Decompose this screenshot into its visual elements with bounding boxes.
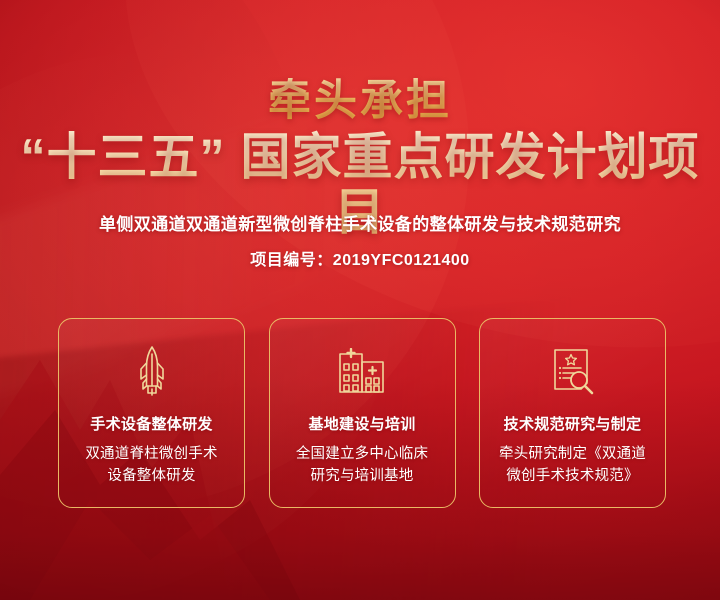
- card-title: 基地建设与培训: [308, 413, 415, 434]
- card-description-line: 全国建立多中心临床: [276, 443, 448, 465]
- hospital-building-icon: [338, 345, 386, 397]
- feature-card-list: 手术设备整体研发 双通道脊柱微创手术 设备整体研发: [58, 318, 666, 508]
- card-description-line: 设备整体研发: [66, 465, 238, 487]
- subtitle: 单侧双通道双通道新型微创脊柱手术设备的整体研发与技术规范研究: [0, 210, 720, 235]
- card-description-line: 双通道脊柱微创手术: [66, 443, 238, 465]
- card-description-line: 牵头研究制定《双通道: [487, 443, 659, 465]
- card-title: 手术设备整体研发: [90, 413, 212, 434]
- card-description-line: 研究与培训基地: [276, 465, 448, 487]
- feature-card[interactable]: 基地建设与培训 全国建立多中心临床 研究与培训基地: [269, 318, 456, 508]
- rocket-icon: [128, 345, 176, 397]
- card-description: 牵头研究制定《双通道 微创手术技术规范》: [487, 443, 659, 488]
- document-search-icon: [549, 345, 597, 397]
- card-title: 技术规范研究与制定: [504, 413, 642, 434]
- feature-card[interactable]: 技术规范研究与制定 牵头研究制定《双通道 微创手术技术规范》: [479, 318, 666, 508]
- promo-banner: 牵头承担 “十三五” 国家重点研发计划项目 单侧双通道双通道新型微创脊柱手术设备…: [0, 0, 720, 600]
- card-description: 双通道脊柱微创手术 设备整体研发: [66, 443, 238, 488]
- card-description-line: 微创手术技术规范》: [487, 465, 659, 487]
- card-description: 全国建立多中心临床 研究与培训基地: [276, 443, 448, 488]
- project-number: 项目编号：2019YFC0121400: [0, 246, 720, 270]
- title-line-1: 牵头承担: [0, 78, 720, 124]
- feature-card[interactable]: 手术设备整体研发 双通道脊柱微创手术 设备整体研发: [58, 318, 245, 508]
